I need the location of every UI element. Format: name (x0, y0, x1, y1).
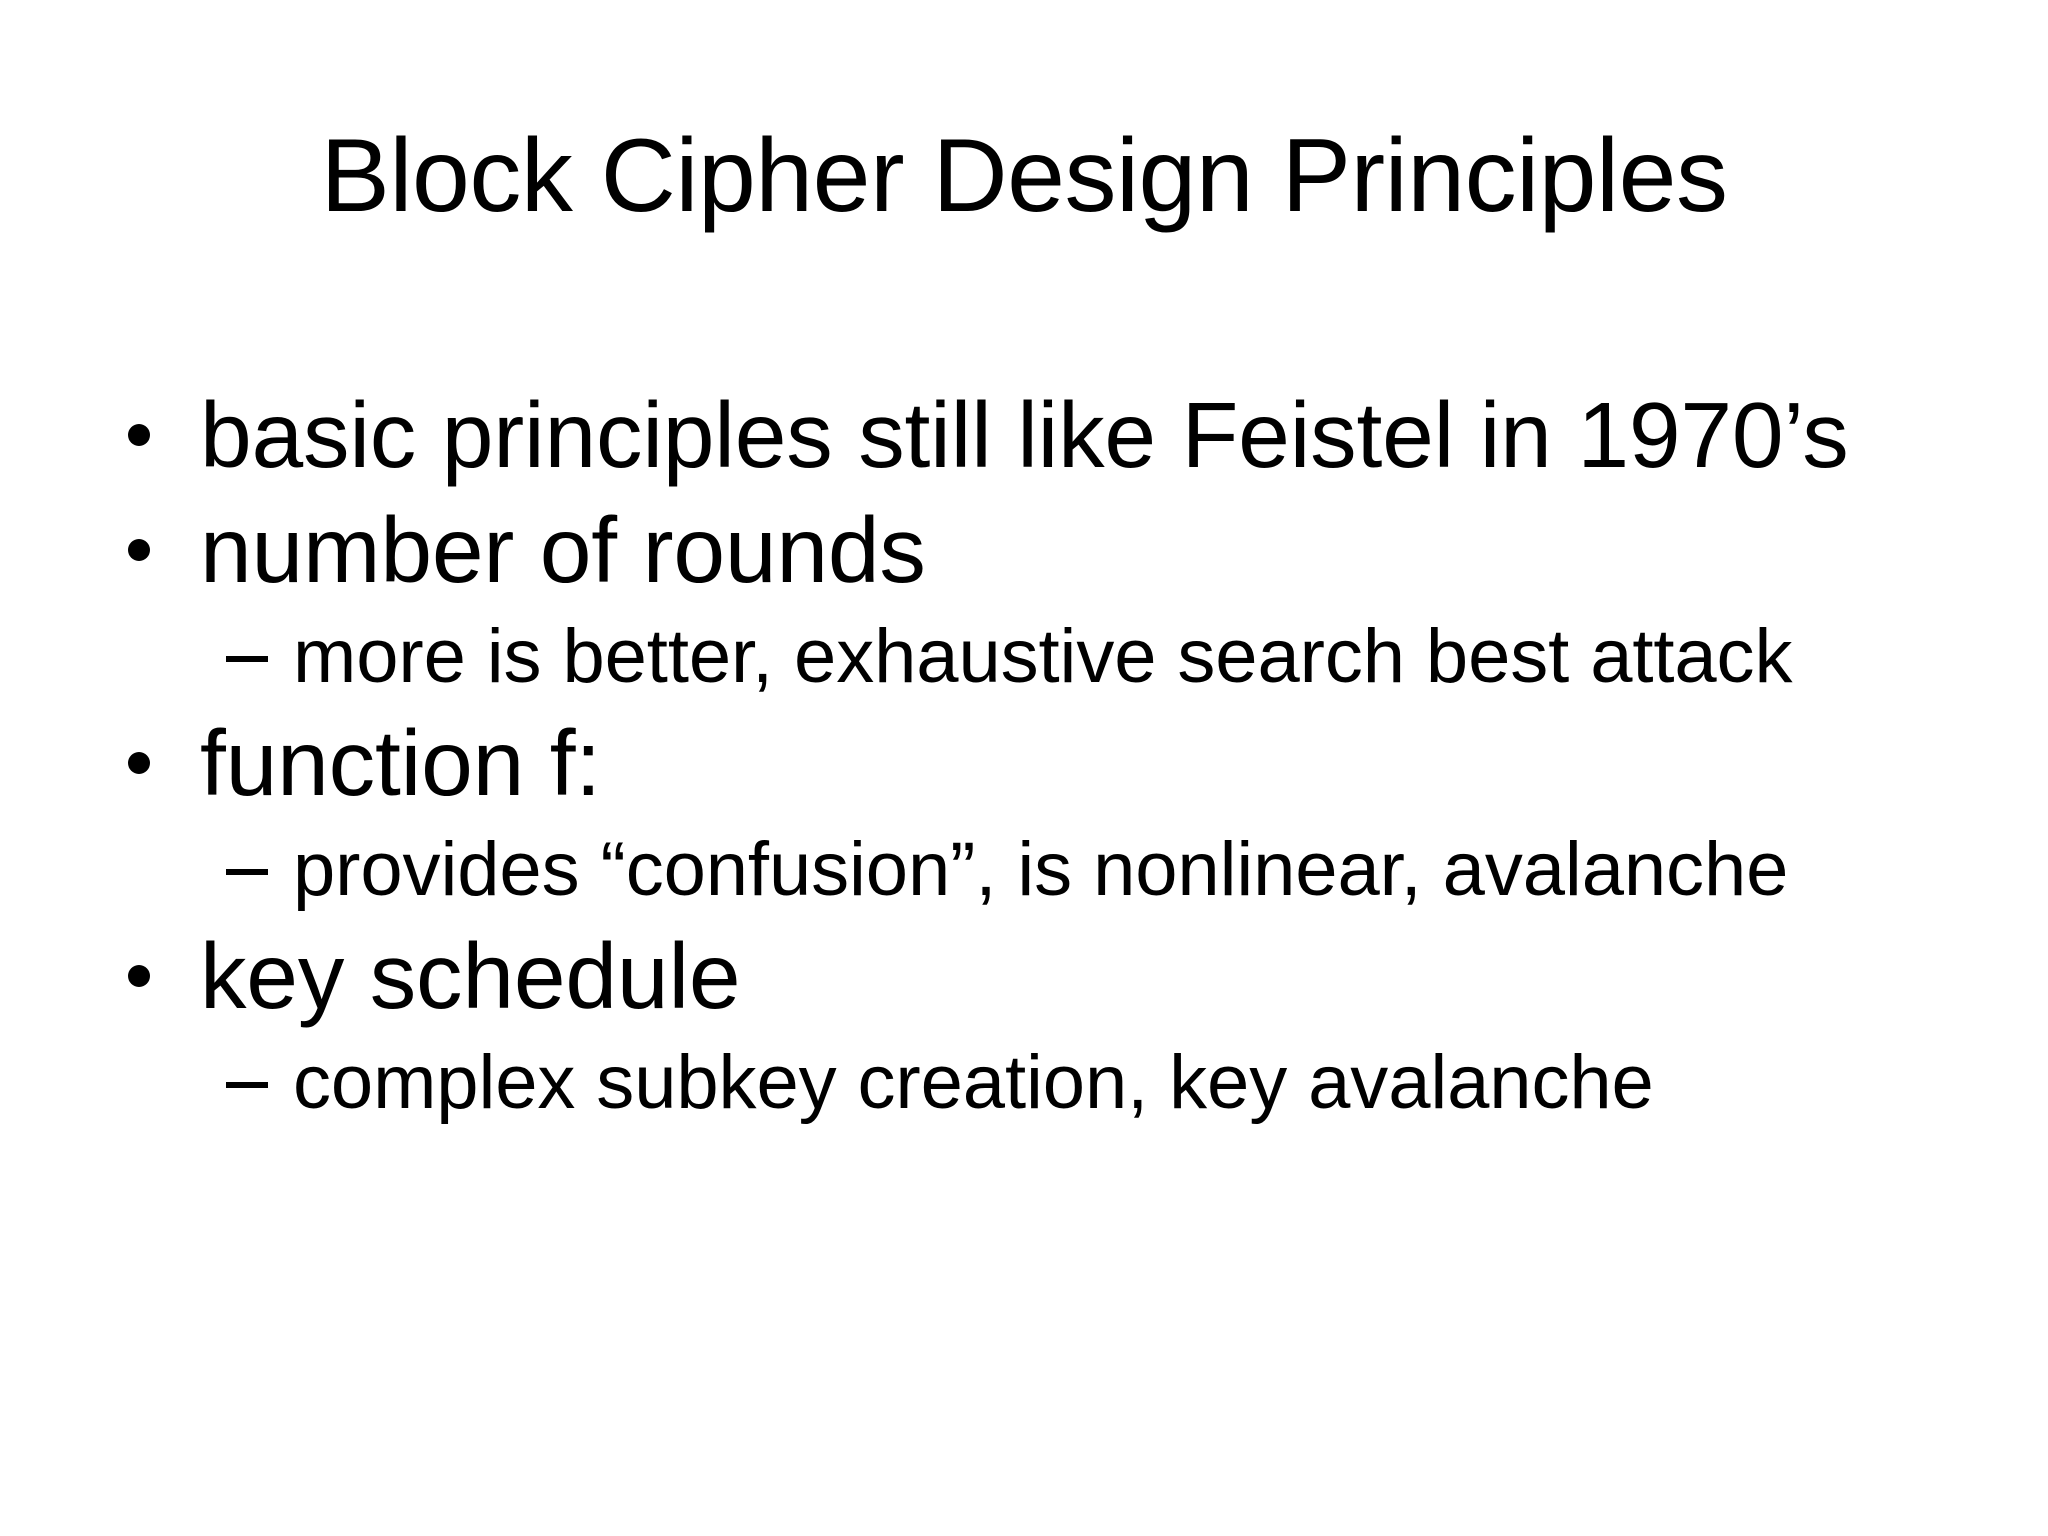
dash-icon (226, 1034, 268, 1132)
sub-list-item[interactable]: provides “confusion”, is nonlinear, aval… (0, 821, 2048, 919)
page-title: Block Cipher Design Principles (0, 118, 2048, 234)
list-item-label: key schedule (200, 919, 740, 1034)
sub-list-item-label: complex subkey creation, key avalanche (293, 1034, 1654, 1132)
slide-body-content: basic principles still like Feistel in 1… (0, 378, 2048, 1132)
dash-icon (226, 608, 268, 706)
bullet-dot-icon (128, 706, 150, 821)
list-item[interactable]: number of rounds (0, 493, 2048, 608)
list-item-label: number of rounds (200, 493, 926, 608)
list-item-label: basic principles still like Feistel in 1… (200, 378, 1849, 493)
list-item[interactable]: key schedule (0, 919, 2048, 1034)
list-item[interactable]: basic principles still like Feistel in 1… (0, 378, 2048, 493)
list-item[interactable]: function f: (0, 706, 2048, 821)
sub-list-item[interactable]: more is better, exhaustive search best a… (0, 608, 2048, 706)
sub-list-item-label: more is better, exhaustive search best a… (293, 608, 1792, 706)
list-item-label: function f: (200, 706, 601, 821)
bullet-dot-icon (128, 919, 150, 1034)
sub-list-item[interactable]: complex subkey creation, key avalanche (0, 1034, 2048, 1132)
presentation-slide: Block Cipher Design Principles basic pri… (0, 0, 2048, 1536)
bullet-dot-icon (128, 493, 150, 608)
dash-icon (226, 821, 268, 919)
sub-list-item-label: provides “confusion”, is nonlinear, aval… (293, 821, 1788, 919)
bullet-dot-icon (128, 378, 150, 493)
